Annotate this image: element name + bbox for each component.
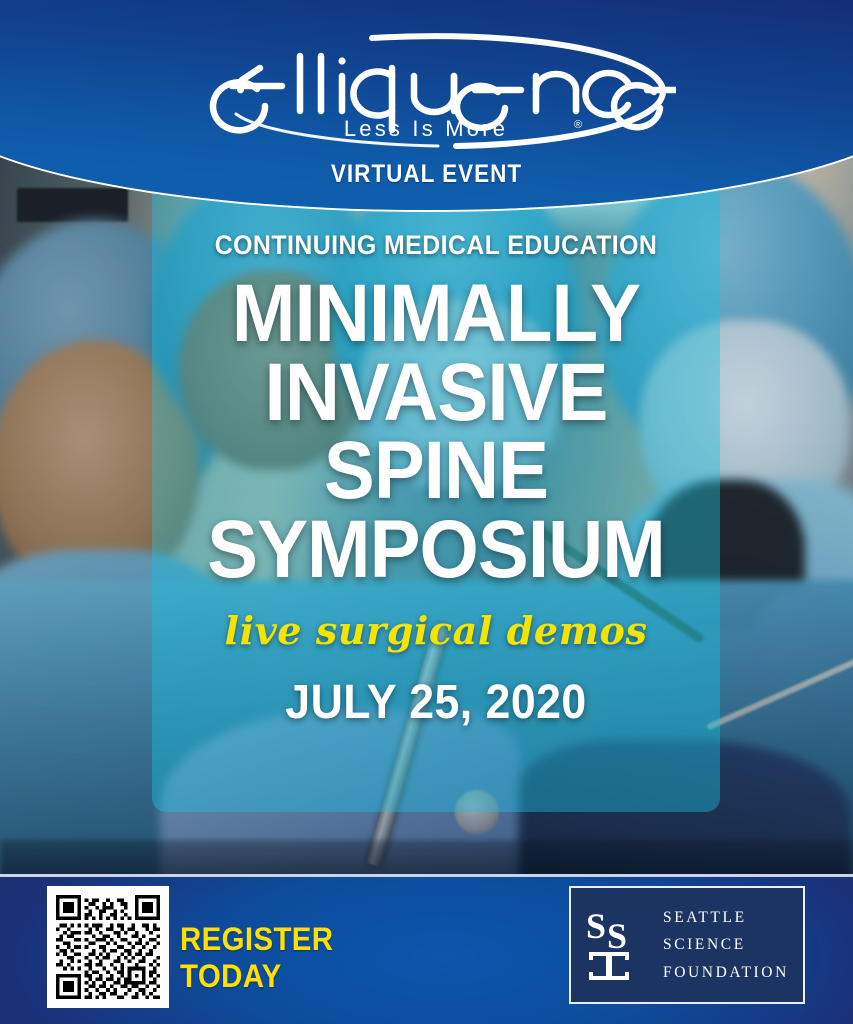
svg-text:S: S bbox=[586, 906, 606, 946]
seattle-science-foundation-logo[interactable]: S S SEATTLE SCIENCE FOUNDATION bbox=[569, 886, 805, 1004]
logo-tagline-text: Less Is More bbox=[344, 116, 508, 141]
elliquence-logo: Less Is More ® bbox=[176, 28, 676, 150]
register-today-cta[interactable]: REGISTER TODAY bbox=[180, 921, 438, 995]
qr-code[interactable] bbox=[47, 886, 169, 1008]
headline-line-4: SYMPOSIUM bbox=[172, 511, 700, 590]
ssf-wordmark: SEATTLE SCIENCE FOUNDATION bbox=[663, 904, 789, 985]
ssf-name-line-1: SEATTLE bbox=[663, 904, 789, 931]
qr-code-svg bbox=[56, 895, 160, 999]
event-date: JULY 25, 2020 bbox=[172, 675, 700, 730]
elliquence-logo-svg: Less Is More ® bbox=[176, 28, 676, 150]
title-block: CONTINUING MEDICAL EDUCATION MINIMALLY I… bbox=[152, 150, 720, 812]
event-poster: Less Is More ® VIRTUAL EVENT CONTINUING … bbox=[0, 0, 853, 1024]
headline-line-3: SPINE bbox=[172, 432, 700, 511]
event-headline: MINIMALLY INVASIVE SPINE SYMPOSIUM bbox=[172, 275, 700, 590]
svg-text:S: S bbox=[607, 916, 627, 956]
ssf-name-line-3: FOUNDATION bbox=[663, 959, 789, 986]
kicker-text: CONTINUING MEDICAL EDUCATION bbox=[175, 230, 698, 261]
ssf-monogram-icon: S S bbox=[585, 904, 647, 986]
headline-line-2: INVASIVE bbox=[172, 354, 700, 433]
headline-line-1: MINIMALLY bbox=[172, 275, 700, 354]
ssf-name-line-2: SCIENCE bbox=[663, 931, 789, 958]
logo-trademark-text: ® bbox=[574, 119, 582, 131]
event-subtitle: live surgical demos bbox=[152, 608, 720, 653]
